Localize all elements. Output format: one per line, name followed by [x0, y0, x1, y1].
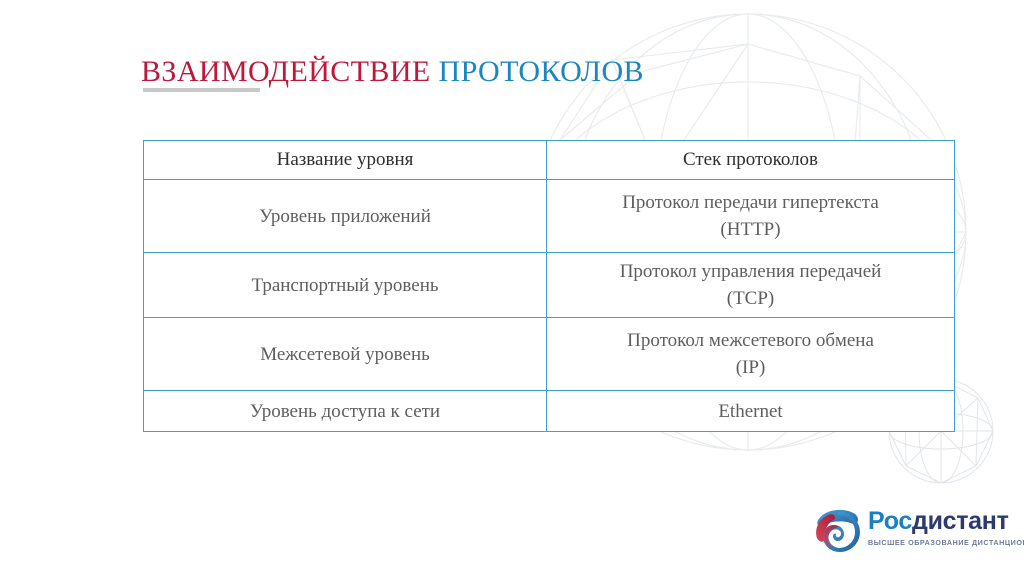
protocol-stack-table: Название уровня Стек протоколов Уровень …	[143, 140, 955, 432]
cell-protocol-stack-line2: (TCP)	[727, 288, 775, 309]
table-row: Межсетевой уровень Протокол межсетевого …	[144, 318, 955, 391]
slide-canvas: ВЗАИМОДЕЙСТВИЕ ПРОТОКОЛОВ Название уровн…	[0, 0, 1024, 574]
page-title-line: ВЗАИМОДЕЙСТВИЕ ПРОТОКОЛОВ	[141, 55, 644, 89]
page-title-word-primary: ВЗАИМОДЕЙСТВИЕ	[141, 55, 431, 88]
cell-protocol-stack: Протокол межсетевого обмена(IP)	[547, 318, 955, 391]
page-title: ВЗАИМОДЕЙСТВИЕ ПРОТОКОЛОВ	[141, 55, 644, 89]
logo-tagline: ВЫСШЕЕ ОБРАЗОВАНИЕ ДИСТАНЦИОННО	[868, 538, 1016, 547]
logo-wordmark-part1: Рос	[868, 507, 912, 535]
column-header-stack: Стек протоколов	[547, 141, 955, 180]
cell-protocol-stack-line1: Протокол передачи гипертекста	[622, 192, 879, 213]
cell-protocol-stack: Протокол передачи гипертекста(HTTP)	[547, 180, 955, 253]
page-title-word-secondary: ПРОТОКОЛОВ	[439, 55, 644, 88]
table-row: Транспортный уровень Протокол управления…	[144, 253, 955, 318]
column-header-level: Название уровня	[144, 141, 547, 180]
page-title-underline	[143, 88, 260, 92]
rosdistant-logo: Росдистант ВЫСШЕЕ ОБРАЗОВАНИЕ ДИСТАНЦИОН…	[812, 503, 1012, 561]
cell-protocol-stack-line2: (HTTP)	[720, 219, 780, 240]
rosdistant-swirl-globe-icon	[812, 505, 864, 555]
cell-protocol-stack-line2: (IP)	[736, 357, 766, 378]
table-row: Уровень доступа к сети Ethernet	[144, 391, 955, 432]
cell-level-name: Транспортный уровень	[144, 253, 547, 318]
cell-level-name: Уровень доступа к сети	[144, 391, 547, 432]
table-header-row: Название уровня Стек протоколов	[144, 141, 955, 180]
cell-protocol-stack: Протокол управления передачей(TCP)	[547, 253, 955, 318]
logo-text-block: Росдистант ВЫСШЕЕ ОБРАЗОВАНИЕ ДИСТАНЦИОН…	[868, 507, 1016, 547]
cell-protocol-stack-line1: Протокол управления передачей	[620, 261, 882, 282]
cell-level-name: Уровень приложений	[144, 180, 547, 253]
table-row: Уровень приложений Протокол передачи гип…	[144, 180, 955, 253]
logo-wordmark-part2: дистант	[912, 507, 1009, 535]
cell-level-name: Межсетевой уровень	[144, 318, 547, 391]
cell-protocol-stack: Ethernet	[547, 391, 955, 432]
logo-wordmark: Росдистант	[868, 507, 1016, 535]
cell-protocol-stack-line1: Протокол межсетевого обмена	[627, 330, 874, 351]
